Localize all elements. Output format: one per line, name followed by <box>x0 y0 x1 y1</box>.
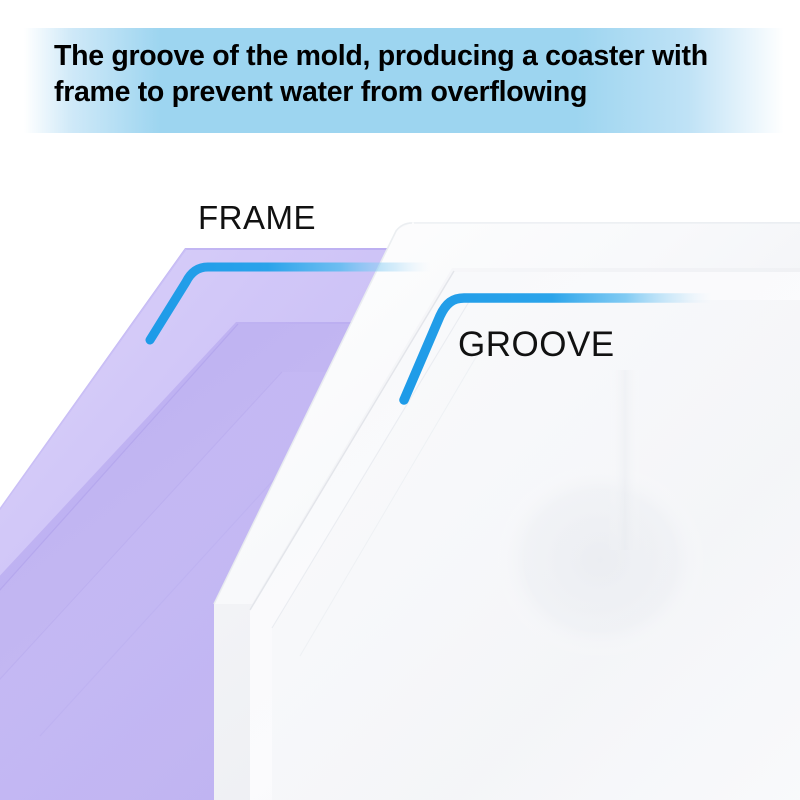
header-caption: The groove of the mold, producing a coas… <box>54 38 766 110</box>
groove-callout-label: GROOVE <box>458 325 615 365</box>
white-mold-stem-impression <box>608 370 642 550</box>
white-mold-circular-impression <box>492 460 708 660</box>
product-image: FRAME GROOVE The groove of the mold, pro… <box>0 0 800 800</box>
frame-callout-label: FRAME <box>198 199 316 237</box>
